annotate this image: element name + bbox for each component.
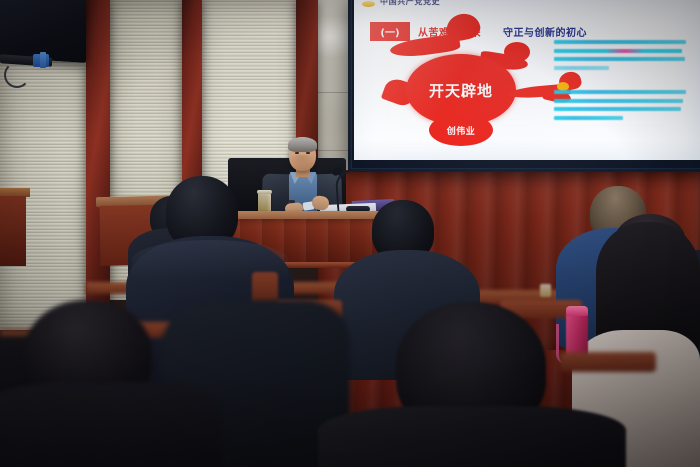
slide-paragraph-2 [554,90,686,124]
presenter-face-shading [290,155,314,169]
lecture-hall-photo: 中国共产党党史 (一) 从苦难中走来 守正与创新的初心 开天辟地 创伟业 [0,0,700,467]
figure-arm-icon [504,42,530,62]
attendee-7-body [318,406,626,467]
presenter-eye-left [295,152,299,154]
section-badge: (一) [370,22,410,41]
party-emblem-logo-icon [362,1,375,7]
slide-header: 中国共产党党史 [354,0,700,10]
left-rail-body [0,196,26,266]
water-bottle-cap [566,306,588,316]
slide-header-title: 中国共产党党史 [380,0,440,7]
chair-back-4 [560,352,656,372]
attendee-6-body [0,382,220,467]
tea-glass-lid [257,190,272,194]
presenter-eye-right [306,152,310,154]
presentation-slide: 中国共产党党史 (一) 从苦难中走来 守正与创新的初心 开天辟地 创伟业 [354,0,700,160]
slide-paragraph-1 [554,40,686,74]
monitor-bracket-clip-highlight [40,52,46,68]
section-title-blue: 守正与创新的初心 [503,28,587,39]
presenter-hair [288,137,317,152]
monitor-cable [4,62,30,88]
sub-ellipse-label: 创伟业 [429,114,493,146]
desk-cup [540,284,551,297]
